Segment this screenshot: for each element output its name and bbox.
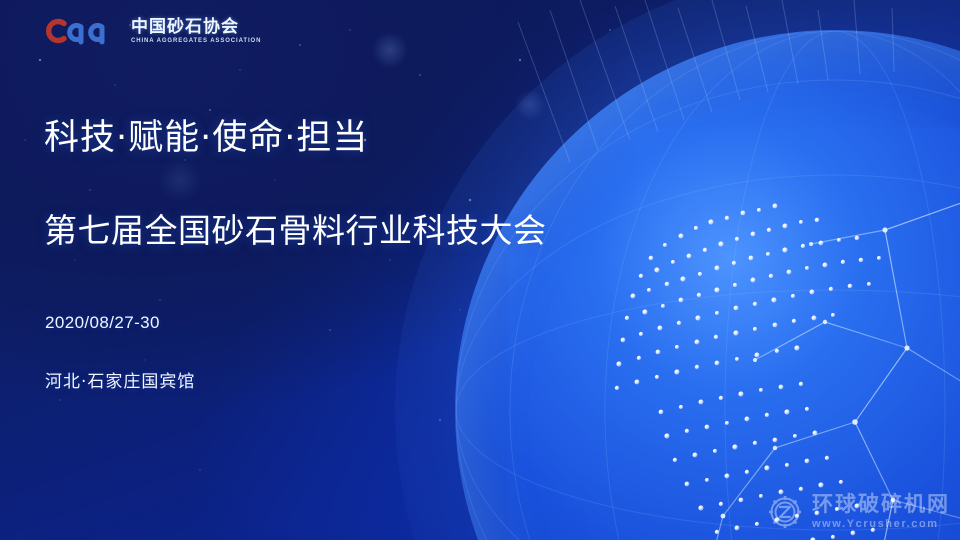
caa-monogram-icon <box>42 16 124 46</box>
conference-poster: 中国砂石协会 CHINA AGGREGATES ASSOCIATION 科技·赋… <box>0 0 960 540</box>
org-name-en: CHINA AGGREGATES ASSOCIATION <box>131 38 261 44</box>
watermark-text: 环球破碎机网 www.Ycrusher.com <box>812 494 950 530</box>
poster-headline: 科技·赋能·使命·担当 <box>44 121 368 156</box>
caa-logo: 中国砂石协会 CHINA AGGREGATES ASSOCIATION <box>42 12 261 50</box>
gear-icon <box>765 492 805 532</box>
watermark-site-name: 环球破碎机网 <box>812 494 950 515</box>
event-venue: 河北·石家庄国宾馆 <box>45 367 195 392</box>
event-date: 2020/08/27-30 <box>45 313 160 333</box>
org-name-cn: 中国砂石协会 <box>131 19 261 36</box>
caa-logo-text: 中国砂石协会 CHINA AGGREGATES ASSOCIATION <box>131 19 261 44</box>
poster-subtitle: 第七届全国砂石骨料行业科技大会 <box>44 214 547 247</box>
site-watermark: 环球破碎机网 www.Ycrusher.com <box>765 492 950 532</box>
watermark-url: www.Ycrusher.com <box>812 519 950 530</box>
